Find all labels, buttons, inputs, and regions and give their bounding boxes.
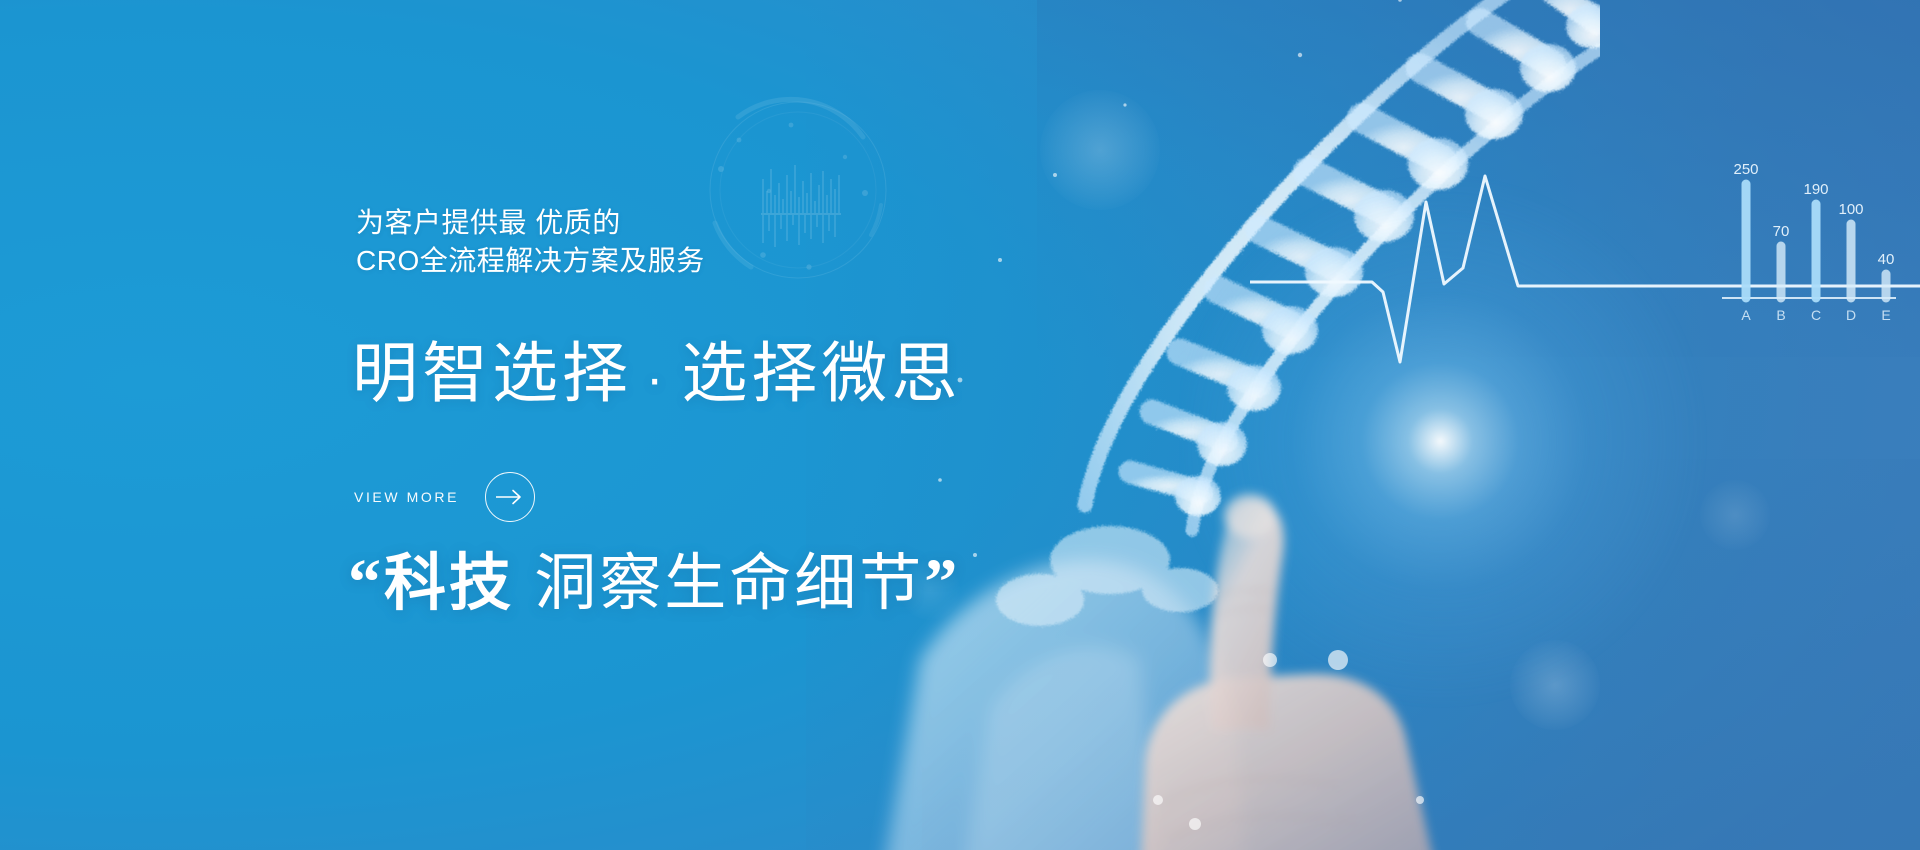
bar-value-C: 190 xyxy=(1803,181,1828,198)
bar-chart: 250 70 190 100 40 A B C D E xyxy=(1700,150,1920,340)
bar-value-B: 70 xyxy=(1773,223,1790,240)
quote-light-text: 洞察生命细节 xyxy=(514,549,924,618)
headline-separator: · xyxy=(632,350,681,408)
bar-category-C: C xyxy=(1811,307,1821,323)
hero-content: 为客户提供最 优质的 CRO全流程解决方案及服务 明智选择·选择微思 VIEW … xyxy=(356,0,1256,850)
headline-left: 明智选择 xyxy=(352,336,632,410)
hero-quote: “科技 洞察生命细节” xyxy=(348,539,960,628)
bar-value-A: 250 xyxy=(1733,161,1758,178)
bar-value-D: 100 xyxy=(1838,201,1863,218)
bar-category-B: B xyxy=(1776,307,1785,323)
arrow-right-icon[interactable] xyxy=(485,472,535,522)
view-more-label: VIEW MORE xyxy=(354,489,459,505)
quote-open-mark: “ xyxy=(348,546,384,619)
hero-subtitle: 为客户提供最 优质的 CRO全流程解决方案及服务 xyxy=(356,204,705,280)
bar-category-A: A xyxy=(1741,307,1751,323)
view-more-button[interactable]: VIEW MORE xyxy=(354,472,535,522)
bar-value-E: 40 xyxy=(1878,251,1895,268)
quote-close-mark: ” xyxy=(924,546,960,619)
quote-strong-text: 科技 xyxy=(384,549,514,618)
hero-banner: 250 70 190 100 40 A B C D E 为客户提供最 优质的 C… xyxy=(0,0,1920,850)
bar-category-E: E xyxy=(1881,307,1890,323)
headline-right: 选择微思 xyxy=(681,336,961,410)
bar-category-D: D xyxy=(1846,307,1856,323)
hero-headline: 明智选择·选择微思 xyxy=(352,336,961,416)
